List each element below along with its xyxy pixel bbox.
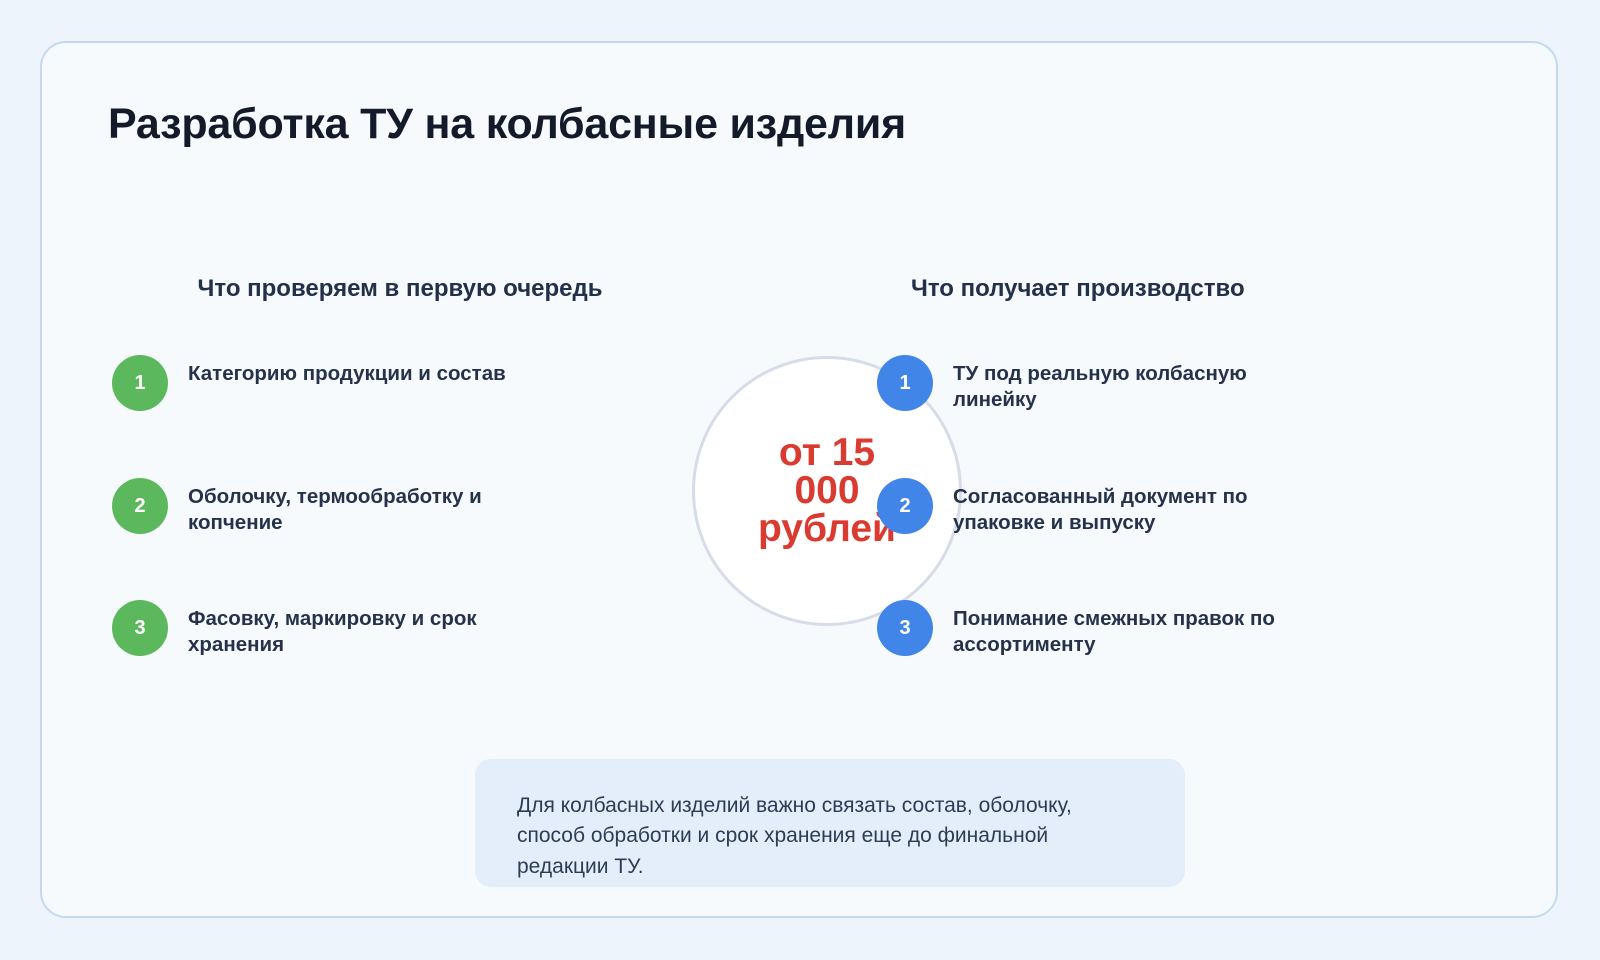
list-item-label: ТУ под реальную колбасную линейку [953, 353, 1313, 413]
step-number-badge: 2 [112, 478, 168, 534]
list-item-label: Категорию продукции и состав [188, 353, 506, 387]
left-column: Что проверяем в первую очередь 1 Категор… [112, 275, 712, 303]
list-item: 3 Понимание смежных правок по ассортимен… [877, 598, 1367, 658]
list-item: 2 Оболочку, термообработку и копчение [112, 476, 712, 536]
step-number-badge: 2 [877, 478, 933, 534]
page-title: Разработка ТУ на колбасные изделия [108, 100, 906, 149]
list-item: 3 Фасовку, маркировку и срок хранения [112, 598, 712, 658]
note-box: Для колбасных изделий важно связать сост… [475, 759, 1185, 887]
list-item-label: Понимание смежных правок по ассортименту [953, 598, 1313, 658]
step-number-badge: 3 [877, 600, 933, 656]
note-text: Для колбасных изделий важно связать сост… [517, 791, 1117, 882]
list-item-label: Оболочку, термообработку и копчение [188, 476, 538, 536]
list-item: 1 ТУ под реальную колбасную линейку [877, 353, 1367, 413]
step-number-badge: 3 [112, 600, 168, 656]
step-number-badge: 1 [877, 355, 933, 411]
right-column-heading: Что получает производство [877, 275, 1367, 303]
infographic-card: Разработка ТУ на колбасные изделия Что п… [40, 41, 1558, 918]
left-column-heading: Что проверяем в первую очередь [112, 275, 712, 303]
list-item-label: Согласованный документ по упаковке и вып… [953, 476, 1313, 536]
list-item-label: Фасовку, маркировку и срок хранения [188, 598, 538, 658]
right-column: Что получает производство 1 ТУ под реаль… [877, 275, 1367, 303]
list-item: 1 Категорию продукции и состав [112, 353, 712, 411]
list-item: 2 Согласованный документ по упаковке и в… [877, 476, 1367, 536]
step-number-badge: 1 [112, 355, 168, 411]
